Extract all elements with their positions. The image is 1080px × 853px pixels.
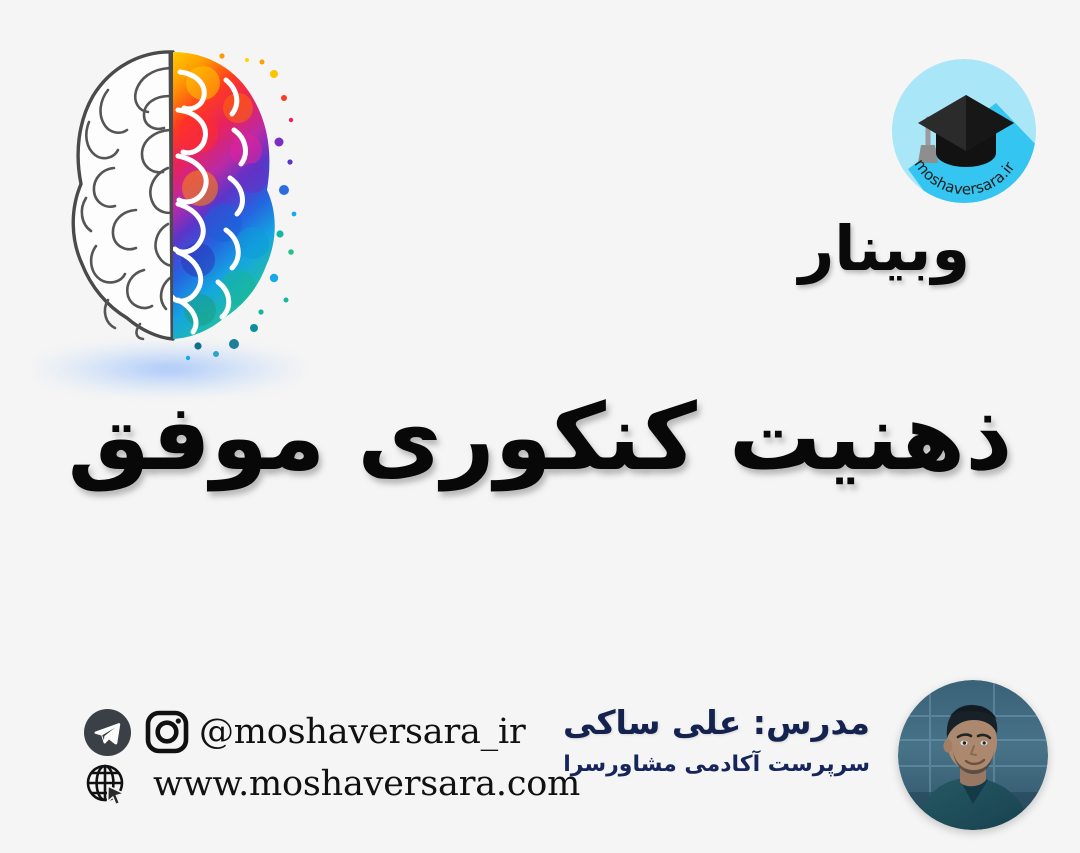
eyebrow-webinar: وبینار xyxy=(799,212,970,285)
presenter-name: مدرس: علی ساکی xyxy=(563,702,870,743)
instagram-icon[interactable] xyxy=(145,710,189,754)
presenter-info: مدرس: علی ساکی سرپرست آکادمی مشاورسرا xyxy=(563,702,870,780)
social-links: @moshaversara_ir www.moshaversara.com xyxy=(84,706,554,810)
moshaversara-logo: moshaversara.ir xyxy=(890,57,1038,205)
instagram-handle[interactable]: @moshaversara_ir xyxy=(199,712,526,752)
instagram-row[interactable]: @moshaversara_ir xyxy=(84,706,554,758)
webinar-poster: moshaversara.ir وبینار ذهنیت کنکوری موفق xyxy=(0,0,1080,853)
presenter-portrait xyxy=(898,680,1048,830)
website-url[interactable]: www.moshaversara.com xyxy=(153,764,580,804)
website-row[interactable]: www.moshaversara.com xyxy=(84,758,554,810)
page-title: ذهنیت کنکوری موفق xyxy=(0,390,1080,487)
globe-cursor-icon[interactable] xyxy=(84,761,131,808)
presenter-role: سرپرست آکادمی مشاورسرا xyxy=(563,751,870,780)
brain-left-hemisphere xyxy=(73,52,185,339)
split-brain-illustration xyxy=(48,38,298,368)
telegram-icon[interactable] xyxy=(84,709,131,756)
brain-right-hemisphere xyxy=(168,48,296,360)
